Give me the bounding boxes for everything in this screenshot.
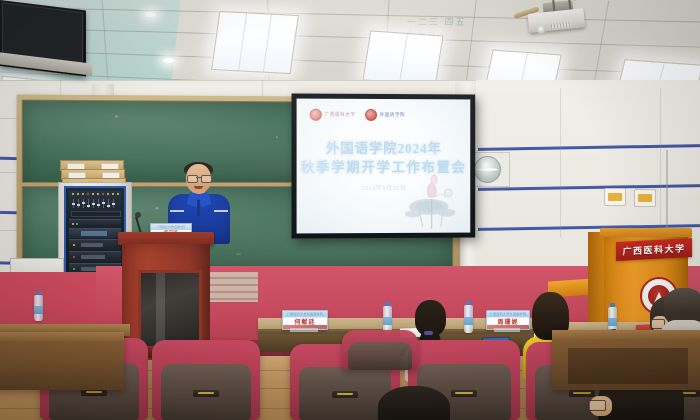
lotus-artwork (399, 173, 460, 231)
slide-logos: 广西医科大学 外国语学院 (310, 108, 460, 122)
mixing-console[interactable] (69, 191, 121, 217)
slide-content: 广西医科大学 外国语学院 外国语学院2024年 秋季学期开学工作布置会 2024… (297, 99, 471, 234)
power-outlet[interactable] (604, 188, 626, 206)
placard-stand (290, 328, 318, 332)
slide-logo-left: 广西医科大学 (310, 108, 356, 120)
ceiling-panel-light (211, 11, 299, 74)
water-bottle (464, 305, 473, 333)
wall-seam (660, 88, 661, 238)
podium-body (122, 244, 210, 350)
ceiling-pot-light (145, 12, 156, 17)
eyeglasses-icon (588, 400, 606, 411)
microphone-icon (135, 212, 141, 218)
ceiling-projector (523, 0, 590, 35)
projector-vent (551, 22, 571, 29)
audience-seat (152, 340, 260, 420)
stacked-cardboard-boxes (60, 160, 126, 184)
audience-head (664, 288, 700, 324)
hair-tie (424, 331, 433, 335)
name-placard: 广西医科大学外国语学院 何献廷 (282, 310, 328, 330)
ceiling-pot-light (163, 58, 174, 63)
rack-unit (69, 251, 121, 262)
podium-side (588, 232, 604, 332)
rack-unit (69, 239, 121, 250)
foreground-desk (0, 332, 124, 390)
meeting-room-photo: 一二三 四五六七八 (0, 0, 700, 420)
slide-logo-right: 外国语学院 (365, 108, 405, 120)
water-bottle (383, 306, 392, 333)
eyeglasses-icon (187, 175, 210, 181)
water-bottle (34, 295, 43, 321)
wall-seam (560, 88, 561, 238)
placard-stand (494, 328, 520, 332)
projection-screen: 广西医科大学 外国语学院 外国语学院2024年 秋季学期开学工作布置会 2024… (292, 93, 476, 238)
podium-banner-text: 广西医科大学 (622, 241, 685, 257)
speaker-placket (197, 200, 200, 216)
audience-seat (342, 330, 418, 370)
slide-title-line1: 外国语学院2024年 (297, 139, 471, 158)
slide-logo-right-text: 外国语学院 (380, 111, 405, 117)
audience-head (378, 386, 450, 420)
podium-nameplate-header: 广西医科大学外国语学院 (151, 225, 191, 229)
rack-unit (69, 219, 121, 227)
ceiling: 一二三 四五六七八 (0, 0, 700, 92)
slide-title: 外国语学院2024年 秋季学期开学工作布置会 (297, 139, 471, 177)
audience-member-front-left (378, 386, 450, 420)
university-emblem-icon (310, 108, 322, 120)
foreground-desk (552, 330, 700, 390)
college-emblem-icon (365, 108, 377, 120)
slide-logo-left-text: 广西医科大学 (325, 111, 356, 117)
placard-header: 广西医科大学外国语学院 (283, 312, 327, 317)
power-outlet[interactable] (634, 189, 656, 207)
ceiling-panel-light (362, 30, 443, 85)
rack-unit (69, 228, 121, 238)
podium-banner: 广西医科大学 (616, 238, 692, 261)
